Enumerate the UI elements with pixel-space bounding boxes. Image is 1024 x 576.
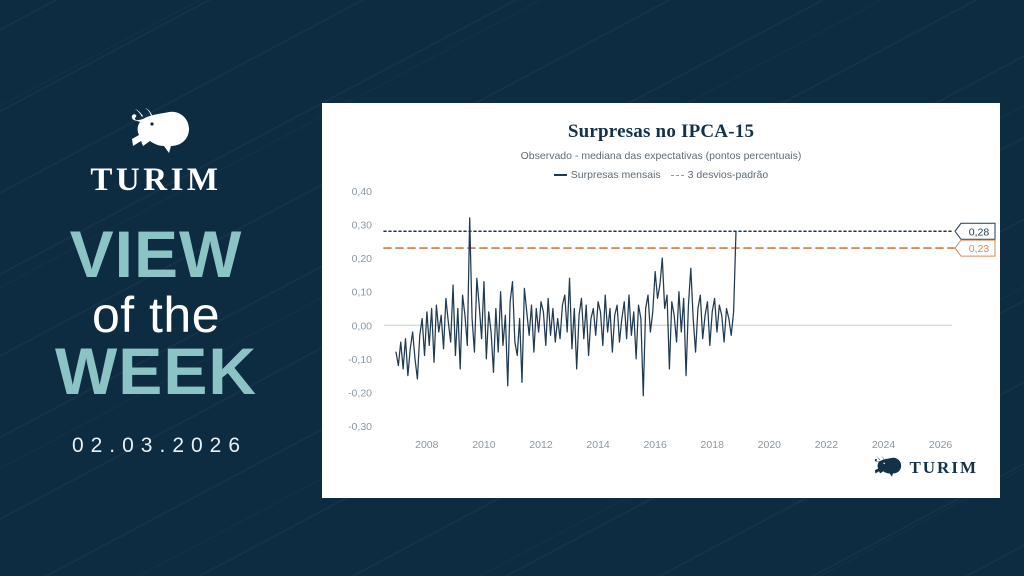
- brand-panel: TURIM VIEW of the WEEK 02.03.2026: [0, 0, 312, 576]
- y-axis-tick-label: 0,00: [352, 320, 373, 332]
- x-axis-tick-label: 2010: [472, 439, 496, 451]
- plot-area: 0,400,300,200,100,00-0,10-0,20-0,3020082…: [322, 183, 1000, 468]
- y-axis-tick-label: -0,30: [348, 421, 372, 433]
- callout-023: 0,23: [955, 240, 995, 256]
- headline-view: VIEW: [0, 223, 312, 286]
- x-axis-tick-label: 2008: [415, 439, 439, 451]
- card-turim-wordmark: TURIM: [909, 458, 978, 478]
- legend-item-desvios: 3 desvios-padrão: [671, 169, 769, 181]
- chart-card: Surpresas no IPCA-15 Observado - mediana…: [322, 103, 1000, 498]
- headline-block: VIEW of the WEEK: [0, 223, 312, 404]
- turim-logo: TURIM: [90, 108, 221, 197]
- headline-week: WEEK: [0, 340, 312, 403]
- legend-label-desvios: 3 desvios-padrão: [688, 169, 769, 181]
- chart-legend: Surpresas mensais 3 desvios-padrão: [322, 169, 1000, 181]
- callout-028: 0,28: [955, 223, 995, 239]
- legend-item-surpresas: Surpresas mensais: [554, 169, 661, 181]
- legend-solid-swatch-icon: [554, 174, 567, 176]
- chart-title: Surpresas no IPCA-15: [322, 121, 1000, 143]
- y-axis-tick-label: 0,10: [352, 287, 373, 299]
- x-axis-tick-label: 2024: [872, 439, 896, 451]
- y-axis-tick-label: -0,10: [348, 354, 372, 366]
- data-series-line: [396, 218, 736, 396]
- legend-dashed-swatch-icon: [671, 175, 684, 176]
- y-axis-tick-label: 0,40: [352, 186, 373, 198]
- publication-date: 02.03.2026: [0, 434, 312, 458]
- x-axis-tick-label: 2020: [758, 439, 782, 451]
- y-axis-tick-label: -0,20: [348, 387, 372, 399]
- bull-icon: [869, 456, 903, 480]
- callout-028-label: 0,28: [969, 226, 990, 238]
- chart-subtitle: Observado - mediana das expectativas (po…: [322, 150, 1000, 162]
- x-axis-tick-label: 2016: [643, 439, 667, 451]
- card-turim-logo: TURIM: [869, 456, 978, 480]
- legend-label-surpresas: Surpresas mensais: [571, 169, 661, 181]
- x-axis-tick-label: 2012: [529, 439, 553, 451]
- x-axis-tick-label: 2026: [929, 439, 953, 451]
- y-axis-tick-label: 0,20: [352, 253, 373, 265]
- turim-wordmark: TURIM: [90, 164, 221, 197]
- bull-icon: [119, 108, 193, 160]
- callout-023-label: 0,23: [969, 243, 990, 255]
- x-axis-tick-label: 2018: [701, 439, 725, 451]
- chart-plot-svg: 0,400,300,200,100,00-0,10-0,20-0,3020082…: [322, 183, 1000, 468]
- x-axis-tick-label: 2022: [815, 439, 839, 451]
- y-axis-tick-label: 0,30: [352, 220, 373, 232]
- x-axis-tick-label: 2014: [586, 439, 610, 451]
